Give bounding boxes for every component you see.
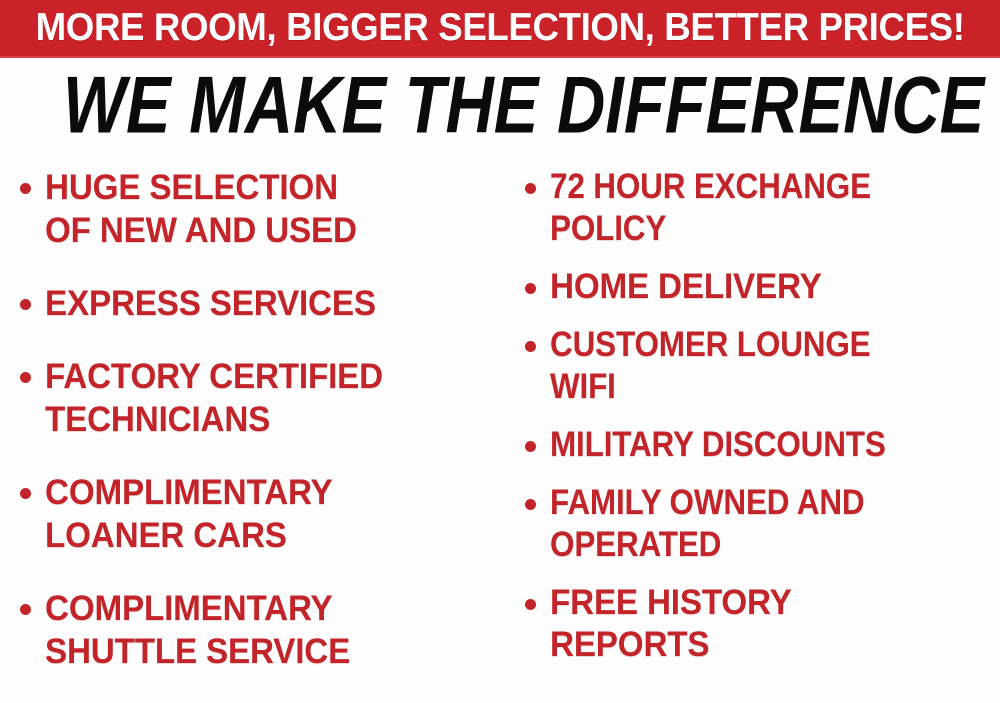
list-item: EXPRESS SERVICES	[20, 282, 505, 325]
list-item-label: CUSTOMER LOUNGE WIFI	[550, 324, 870, 408]
list-item: HUGE SELECTION OF NEW AND USED	[20, 166, 505, 252]
list-item: 72 HOUR EXCHANGE POLICY	[525, 166, 1000, 250]
list-item-label: EXPRESS SERVICES	[45, 282, 376, 325]
bullet-dot-icon	[20, 183, 31, 194]
bullet-dot-icon	[525, 341, 536, 352]
bullet-dot-icon	[20, 488, 31, 499]
bullet-dot-icon	[525, 441, 536, 452]
feature-column-right: 72 HOUR EXCHANGE POLICY HOME DELIVERY CU…	[505, 158, 1000, 682]
headline-text: WE MAKE THE DIFFERENCE	[63, 64, 984, 149]
list-item-label: 72 HOUR EXCHANGE POLICY	[550, 166, 871, 250]
list-item: COMPLIMENTARY LOANER CARS	[20, 471, 505, 557]
list-item: FAMILY OWNED AND OPERATED	[525, 482, 1000, 566]
list-item: FREE HISTORY REPORTS	[525, 582, 1000, 666]
bullet-dot-icon	[20, 299, 31, 310]
list-item-label: FACTORY CERTIFIED TECHNICIANS	[45, 355, 383, 441]
list-item: FACTORY CERTIFIED TECHNICIANS	[20, 355, 505, 441]
list-item: HOME DELIVERY	[525, 266, 1000, 308]
bullet-dot-icon	[525, 499, 536, 510]
feature-columns: HUGE SELECTION OF NEW AND USED EXPRESS S…	[0, 158, 1000, 694]
list-item-label: FAMILY OWNED AND OPERATED	[550, 482, 864, 566]
bullet-dot-icon	[525, 283, 536, 294]
list-item: MILITARY DISCOUNTS	[525, 424, 1000, 466]
list-item-label: MILITARY DISCOUNTS	[550, 424, 886, 466]
list-item-label: HOME DELIVERY	[550, 266, 822, 308]
bullet-dot-icon	[20, 372, 31, 383]
bullet-dot-icon	[525, 599, 536, 610]
bullet-dot-icon	[20, 604, 31, 615]
list-item-label: FREE HISTORY REPORTS	[550, 582, 792, 666]
list-item: COMPLIMENTARY SHUTTLE SERVICE	[20, 587, 505, 673]
list-item-label: COMPLIMENTARY SHUTTLE SERVICE	[45, 587, 350, 673]
list-item-label: COMPLIMENTARY LOANER CARS	[45, 471, 333, 557]
headline: WE MAKE THE DIFFERENCE	[0, 66, 1000, 146]
promo-banner-text: MORE ROOM, BIGGER SELECTION, BETTER PRIC…	[36, 7, 965, 49]
bullet-dot-icon	[525, 183, 536, 194]
list-item: CUSTOMER LOUNGE WIFI	[525, 324, 1000, 408]
feature-column-left: HUGE SELECTION OF NEW AND USED EXPRESS S…	[0, 158, 505, 703]
promo-banner: MORE ROOM, BIGGER SELECTION, BETTER PRIC…	[0, 0, 1000, 58]
list-item-label: HUGE SELECTION OF NEW AND USED	[45, 166, 357, 252]
advertisement-banner: MORE ROOM, BIGGER SELECTION, BETTER PRIC…	[0, 0, 1000, 694]
